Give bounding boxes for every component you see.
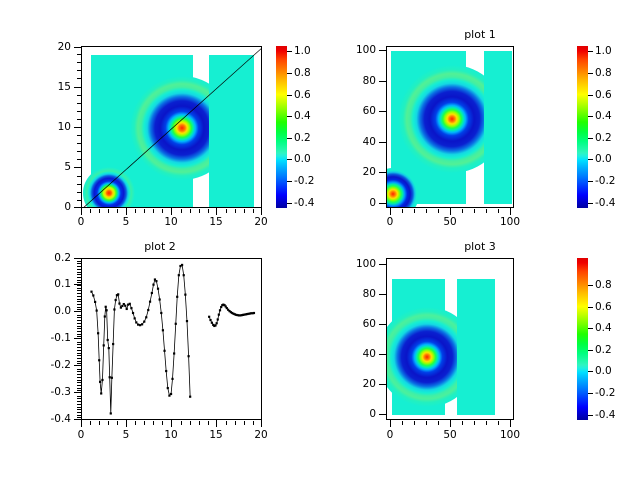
ytick-minor <box>77 184 81 185</box>
ytick-label: 15 <box>44 81 71 93</box>
xtick-minor <box>162 421 163 425</box>
colorbar-tick <box>588 393 593 394</box>
axes-plot2 <box>81 258 262 420</box>
ytick-label: 0 <box>342 408 376 420</box>
ytick-minor <box>77 151 81 152</box>
ytick-major <box>379 81 386 82</box>
colorbar-tick <box>588 51 593 52</box>
data-point-marker <box>118 302 120 304</box>
colorbar-tick <box>588 181 593 182</box>
data-point-marker <box>92 294 94 296</box>
ytick-minor <box>77 301 81 302</box>
colorbar-tick <box>287 138 292 139</box>
data-point-marker <box>218 314 220 316</box>
colorbar-tick <box>287 73 292 74</box>
data-point-marker <box>167 387 169 389</box>
ytick-minor <box>77 326 81 327</box>
panel-bottom-right: plot 3 <box>320 240 640 480</box>
ytick-major <box>74 338 81 339</box>
xtick-minor <box>253 209 254 213</box>
ytick-minor <box>77 95 81 96</box>
ytick-major <box>379 354 386 355</box>
colorbar-tick <box>287 51 292 52</box>
ytick-label: 5 <box>44 161 71 173</box>
ytick-minor <box>77 353 81 354</box>
ytick-minor <box>77 299 81 300</box>
colorbar-tick <box>588 350 593 351</box>
heatmap-top-left <box>82 47 262 208</box>
ytick-minor <box>77 78 81 79</box>
data-point-marker <box>137 324 139 326</box>
data-point-marker <box>171 378 173 380</box>
colorbar-tick <box>287 203 292 204</box>
ytick-minor <box>77 200 81 201</box>
xtick-minor <box>90 421 91 425</box>
xtick-label: 0 <box>375 429 405 441</box>
colorbar-tick <box>588 371 593 372</box>
xtick-label: 5 <box>111 216 141 228</box>
xtick-label: 15 <box>201 429 231 441</box>
ytick-label: 40 <box>342 348 376 360</box>
data-point-marker <box>143 321 145 323</box>
data-point-marker <box>90 291 92 293</box>
panel-title-plot1: plot 1 <box>320 28 640 41</box>
data-point-marker <box>124 305 126 307</box>
data-point-marker <box>101 379 103 381</box>
ytick-minor <box>77 288 81 289</box>
xtick-minor <box>162 209 163 213</box>
colorbar-tick-label: 1.0 <box>595 45 629 57</box>
data-point-marker <box>97 332 99 334</box>
data-point-marker <box>178 274 180 276</box>
ytick-label: 0 <box>44 201 71 213</box>
panel-top-right: plot 1 <box>320 0 640 240</box>
xtick-minor <box>199 209 200 213</box>
colorbar-tick <box>287 159 292 160</box>
ytick-minor <box>77 293 81 294</box>
xtick-major <box>126 208 127 215</box>
colorbar-tick-label: -0.4 <box>595 197 629 209</box>
ytick-minor <box>77 272 81 273</box>
colorbar-tick <box>588 138 593 139</box>
xtick-major <box>450 208 451 215</box>
ytick-label: -0.4 <box>34 413 71 425</box>
ytick-label: 60 <box>342 105 376 117</box>
xtick-minor <box>117 209 118 213</box>
colorbar-tick <box>588 415 593 416</box>
xtick-minor <box>462 209 463 213</box>
xtick-major <box>390 420 391 427</box>
data-point-marker <box>220 306 222 308</box>
xtick-minor <box>208 421 209 425</box>
ytick-minor <box>77 361 81 362</box>
ytick-major <box>379 111 386 112</box>
xtick-minor <box>402 421 403 425</box>
ytick-major <box>74 47 81 48</box>
colorbar-tick <box>588 116 593 117</box>
data-point-marker <box>121 305 123 307</box>
colorbar-tick-label: -0.4 <box>595 409 629 421</box>
heatmap-plot1 <box>387 47 514 208</box>
colorbar-tick <box>588 328 593 329</box>
ytick-minor <box>77 334 81 335</box>
colorbar-tick <box>588 159 593 160</box>
data-point-marker <box>253 312 255 314</box>
ytick-major <box>74 167 81 168</box>
xtick-minor <box>426 209 427 213</box>
data-point-marker <box>109 376 111 378</box>
data-point-marker <box>186 320 188 322</box>
ytick-label: 20 <box>342 166 376 178</box>
ytick-minor <box>77 266 81 267</box>
ytick-major <box>379 294 386 295</box>
data-point-marker <box>135 321 137 323</box>
data-point-marker <box>111 377 113 379</box>
heatmap-plot3 <box>387 259 514 420</box>
data-point-marker <box>105 306 107 308</box>
series-markers-b <box>208 304 255 328</box>
ytick-major <box>379 414 386 415</box>
xtick-minor <box>235 209 236 213</box>
data-point-marker <box>214 324 216 326</box>
ytick-minor <box>77 344 81 345</box>
data-point-marker <box>162 329 164 331</box>
xtick-minor <box>474 421 475 425</box>
ytick-minor <box>77 363 81 364</box>
colorbar-tick-label: 0.8 <box>595 67 629 79</box>
ytick-minor <box>77 331 81 332</box>
ytick-minor <box>77 396 81 397</box>
ytick-minor <box>77 374 81 375</box>
data-point-marker <box>106 309 108 311</box>
colorbar-gradient <box>577 46 588 208</box>
ytick-minor <box>77 328 81 329</box>
ytick-minor <box>77 380 81 381</box>
xtick-minor <box>117 421 118 425</box>
xtick-label: 50 <box>435 216 465 228</box>
ytick-minor <box>77 135 81 136</box>
colorbar-plot3 <box>577 258 588 420</box>
data-point-marker <box>94 301 96 303</box>
data-point-marker <box>107 339 109 341</box>
ytick-major <box>379 172 386 173</box>
xtick-minor <box>235 421 236 425</box>
figure-canvas: 0 5 10 15 20 0 5 10 15 20 <box>0 0 640 480</box>
ytick-minor <box>77 417 81 418</box>
series-markers-a <box>90 264 191 415</box>
ytick-minor <box>77 103 81 104</box>
ytick-minor <box>77 309 81 310</box>
ytick-label: 60 <box>342 318 376 330</box>
ytick-minor <box>77 285 81 286</box>
xtick-label: 10 <box>156 216 186 228</box>
ytick-minor <box>77 323 81 324</box>
ytick-minor <box>77 347 81 348</box>
ytick-minor <box>77 385 81 386</box>
xtick-label: 0 <box>375 216 405 228</box>
data-point-marker <box>216 322 218 324</box>
xtick-minor <box>99 209 100 213</box>
ytick-minor <box>77 70 81 71</box>
xtick-major <box>171 208 172 215</box>
axes-top-left <box>81 46 262 208</box>
xtick-major <box>261 420 262 427</box>
ytick-label: 0.0 <box>34 305 71 317</box>
colorbar-tick <box>588 95 593 96</box>
ytick-minor <box>77 350 81 351</box>
xtick-minor <box>181 209 182 213</box>
data-point-marker <box>170 393 172 395</box>
ytick-major <box>74 311 81 312</box>
ytick-minor <box>77 317 81 318</box>
ytick-minor <box>77 274 81 275</box>
ytick-label: 100 <box>342 44 376 56</box>
ytick-major <box>379 50 386 51</box>
colorbar-tick-label: 0.8 <box>595 279 629 291</box>
ytick-minor <box>77 404 81 405</box>
ytick-minor <box>77 398 81 399</box>
ytick-minor <box>77 269 81 270</box>
xtick-minor <box>144 209 145 213</box>
data-point-marker <box>129 303 131 305</box>
data-point-marker <box>165 370 167 372</box>
xtick-major <box>171 420 172 427</box>
ytick-label: 40 <box>342 136 376 148</box>
xtick-major <box>390 208 391 215</box>
xtick-label: 5 <box>111 429 141 441</box>
ytick-minor <box>77 371 81 372</box>
ytick-minor <box>77 320 81 321</box>
ytick-major <box>379 324 386 325</box>
ytick-minor <box>77 304 81 305</box>
xtick-minor <box>99 421 100 425</box>
xtick-major <box>510 208 511 215</box>
xtick-minor <box>498 421 499 425</box>
xtick-minor <box>153 209 154 213</box>
panel-title-plot3: plot 3 <box>320 240 640 253</box>
data-point-marker <box>112 343 114 345</box>
data-point-marker <box>149 301 151 303</box>
xtick-minor <box>135 421 136 425</box>
colorbar-gradient <box>276 46 287 208</box>
ytick-major <box>74 392 81 393</box>
data-point-marker <box>151 292 153 294</box>
data-point-marker <box>117 293 119 295</box>
xtick-major <box>510 420 511 427</box>
ytick-minor <box>77 407 81 408</box>
colorbar-tick-label: 0.4 <box>595 322 629 334</box>
ytick-major <box>74 365 81 366</box>
colorbar-tick-label: 0.6 <box>595 301 629 313</box>
xtick-minor <box>181 421 182 425</box>
data-point-marker <box>108 347 110 349</box>
data-point-marker <box>145 316 147 318</box>
data-point-marker <box>139 324 141 326</box>
ytick-minor <box>77 277 81 278</box>
ytick-minor <box>77 290 81 291</box>
ytick-minor <box>77 261 81 262</box>
ytick-minor <box>77 336 81 337</box>
data-point-marker <box>211 322 213 324</box>
xtick-minor <box>153 421 154 425</box>
xtick-major <box>450 420 451 427</box>
data-point-marker <box>183 274 185 276</box>
ytick-minor <box>77 282 81 283</box>
data-point-marker <box>160 312 162 314</box>
xtick-minor <box>414 209 415 213</box>
colorbar-tick <box>287 181 292 182</box>
data-point-marker <box>99 381 101 383</box>
data-point-marker <box>96 309 98 311</box>
ytick-major <box>379 203 386 204</box>
ytick-minor <box>77 382 81 383</box>
colorbar-tick-label: -0.2 <box>595 175 629 187</box>
data-point-marker <box>141 323 143 325</box>
xtick-minor <box>244 209 245 213</box>
data-point-marker <box>176 296 178 298</box>
ytick-major <box>379 264 386 265</box>
ytick-label: 100 <box>342 258 376 270</box>
image-patch-right <box>457 279 495 415</box>
ytick-label: 0.2 <box>34 252 71 264</box>
data-point-marker <box>173 352 175 354</box>
ytick-minor <box>77 159 81 160</box>
data-point-marker <box>104 315 106 317</box>
data-point-marker <box>175 323 177 325</box>
xtick-minor <box>486 209 487 213</box>
data-point-marker <box>115 299 117 301</box>
xtick-minor <box>438 421 439 425</box>
ytick-minor <box>77 409 81 410</box>
ytick-label: 20 <box>44 41 71 53</box>
xtick-minor <box>244 421 245 425</box>
ytick-minor <box>77 307 81 308</box>
ytick-minor <box>77 355 81 356</box>
ytick-major <box>74 87 81 88</box>
ytick-minor <box>77 315 81 316</box>
xtick-minor <box>402 209 403 213</box>
colorbar-gradient <box>577 258 588 420</box>
data-point-marker <box>126 308 128 310</box>
ytick-major <box>379 142 386 143</box>
ytick-label: 0.1 <box>34 278 71 290</box>
colorbar-tick-label: 0.0 <box>595 365 629 377</box>
image-patch-right <box>209 55 254 208</box>
colorbar-tick <box>588 285 593 286</box>
xtick-minor <box>135 209 136 213</box>
data-point-marker <box>159 298 161 300</box>
ytick-minor <box>77 176 81 177</box>
ytick-label: 20 <box>342 378 376 390</box>
xtick-label: 10 <box>156 429 186 441</box>
colorbar-tick-label: 0.2 <box>595 344 629 356</box>
ytick-minor <box>77 192 81 193</box>
colorbar-tick-label: 0.4 <box>595 110 629 122</box>
xtick-minor <box>438 209 439 213</box>
ytick-minor <box>77 143 81 144</box>
ytick-minor <box>77 401 81 402</box>
xtick-minor <box>486 421 487 425</box>
xtick-minor <box>208 209 209 213</box>
colorbar-tick <box>588 307 593 308</box>
xtick-minor <box>462 421 463 425</box>
xtick-label: 20 <box>246 429 276 441</box>
xtick-label: 15 <box>201 216 231 228</box>
xtick-minor <box>253 421 254 425</box>
lineplot-plot2 <box>82 259 262 420</box>
data-point-marker <box>132 312 134 314</box>
ytick-minor <box>77 415 81 416</box>
xtick-major <box>216 420 217 427</box>
xtick-label: 0 <box>66 429 96 441</box>
ytick-major <box>74 419 81 420</box>
xtick-label: 20 <box>246 216 276 228</box>
ytick-minor <box>77 54 81 55</box>
xtick-major <box>126 420 127 427</box>
panel-top-left: 0 5 10 15 20 0 5 10 15 20 <box>0 0 320 240</box>
ytick-major <box>74 127 81 128</box>
data-point-marker <box>184 294 186 296</box>
ytick-minor <box>77 377 81 378</box>
data-point-marker <box>110 412 112 414</box>
data-point-marker <box>113 308 115 310</box>
xtick-major <box>81 208 82 215</box>
xtick-minor <box>144 421 145 425</box>
data-point-marker <box>157 288 159 290</box>
ytick-minor <box>77 342 81 343</box>
data-point-marker <box>188 355 190 357</box>
data-point-marker <box>98 359 100 361</box>
data-point-marker <box>134 317 136 319</box>
data-point-marker <box>147 309 149 311</box>
xtick-major <box>216 208 217 215</box>
ytick-label: -0.2 <box>34 359 71 371</box>
colorbar-plot1 <box>577 46 588 208</box>
data-point-marker <box>100 392 102 394</box>
ytick-minor <box>77 280 81 281</box>
xtick-minor <box>226 421 227 425</box>
ytick-minor <box>77 388 81 389</box>
ytick-minor <box>77 119 81 120</box>
ytick-minor <box>77 369 81 370</box>
ytick-label: 80 <box>342 288 376 300</box>
data-point-marker <box>217 318 219 320</box>
xtick-label: 50 <box>435 429 465 441</box>
ytick-label: 10 <box>44 121 71 133</box>
ytick-major <box>74 207 81 208</box>
colorbar-tick-label: 0.6 <box>595 89 629 101</box>
xtick-label: 100 <box>493 216 527 228</box>
axes-plot3 <box>386 258 514 420</box>
data-point-marker <box>130 307 132 309</box>
xtick-major <box>261 208 262 215</box>
xtick-minor <box>226 209 227 213</box>
colorbar-top-left <box>276 46 287 208</box>
ytick-label: -0.3 <box>34 386 71 398</box>
colorbar-tick <box>588 73 593 74</box>
ytick-label: 0 <box>342 197 376 209</box>
ytick-minor <box>77 62 81 63</box>
xtick-minor <box>426 421 427 425</box>
xtick-minor <box>108 209 109 213</box>
ytick-minor <box>77 412 81 413</box>
ytick-major <box>379 384 386 385</box>
xtick-label: 0 <box>66 216 96 228</box>
data-point-marker <box>189 396 191 398</box>
colorbar-tick <box>588 203 593 204</box>
image-patch-right <box>484 51 512 204</box>
panel-bottom-left: plot 2 -0.4 -0.3 -0.2 -0.1 0.0 0.1 0.2 <box>0 240 320 480</box>
